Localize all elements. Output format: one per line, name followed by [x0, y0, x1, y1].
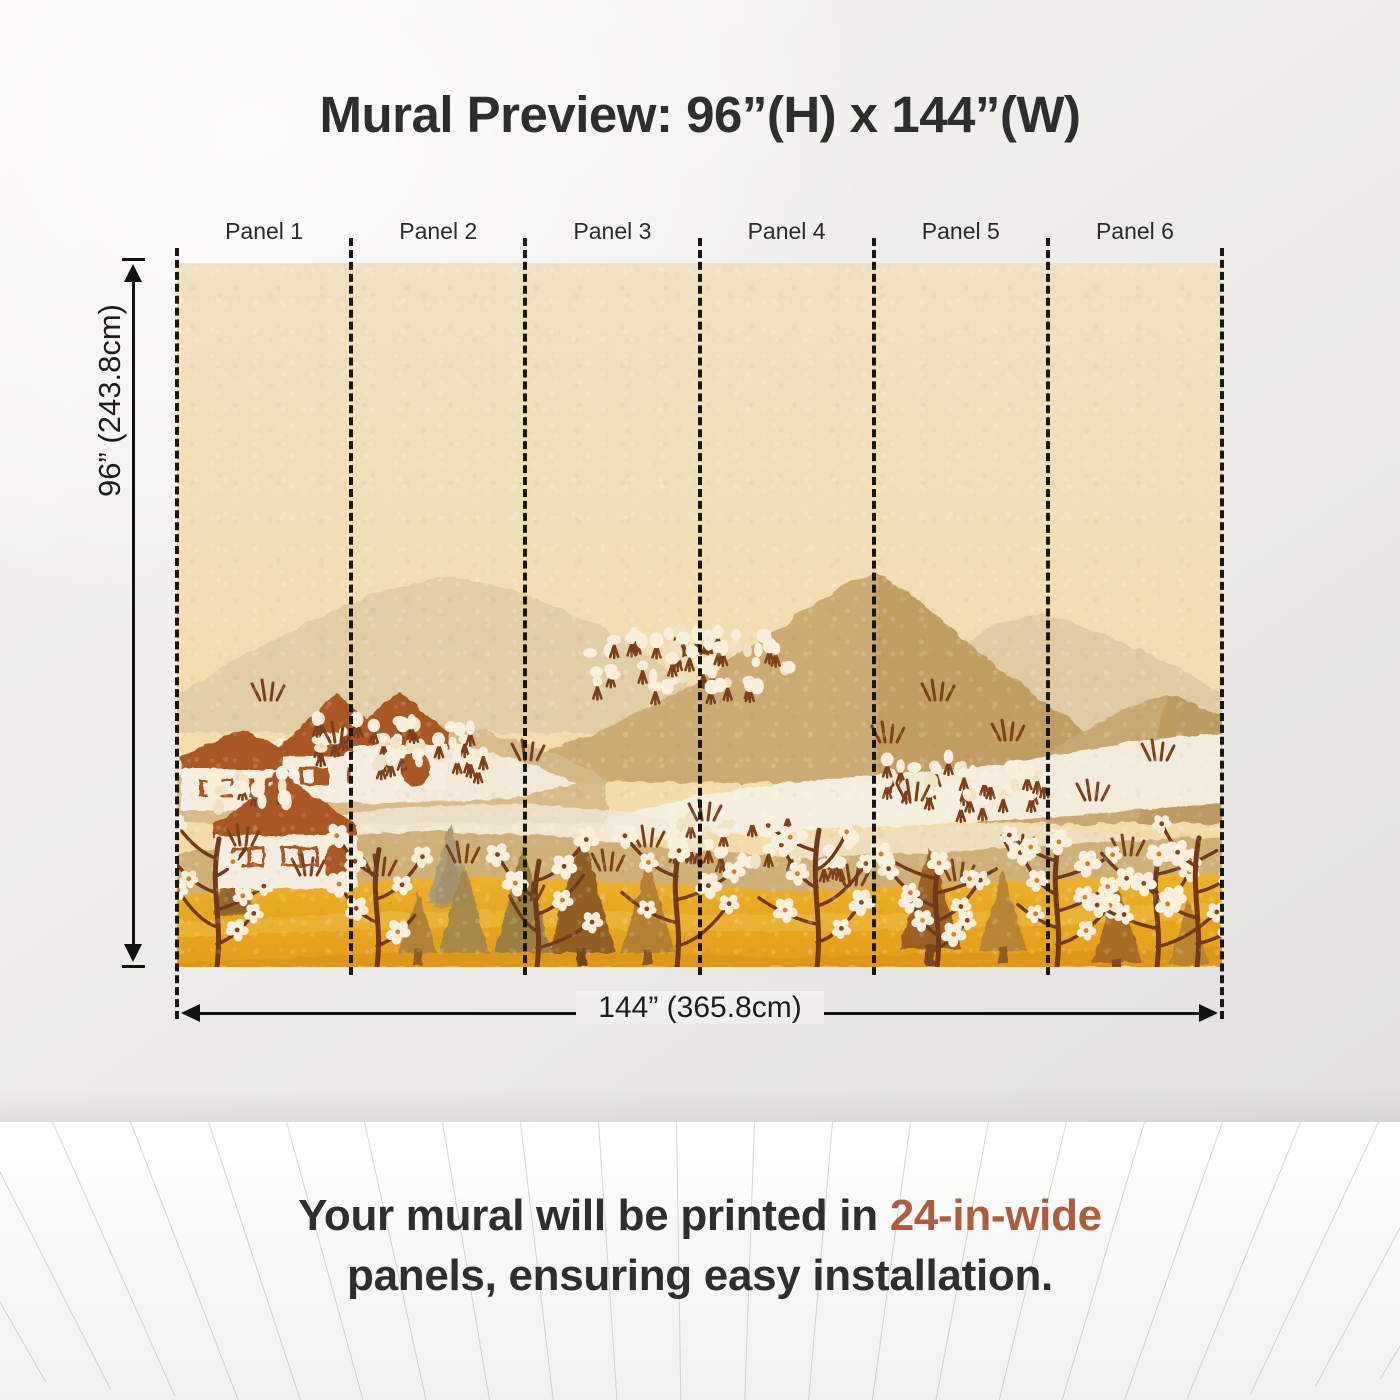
footer-caption-line1: Your mural will be printed in 24-in-wide	[0, 1186, 1400, 1246]
panel-divider-3	[698, 238, 702, 975]
panel-divider-5	[1046, 238, 1050, 975]
footer-caption-line2: panels, ensuring easy installation.	[0, 1246, 1400, 1306]
panel-divider-6	[1220, 248, 1224, 1019]
panel-divider-0	[175, 248, 179, 1019]
panel-divider-1	[349, 238, 353, 975]
height-arrow-bottom-cap	[122, 965, 145, 968]
height-arrow-shaft	[132, 280, 135, 946]
page-title: Mural Preview: 96”(H) x 144”(W)	[0, 85, 1400, 144]
panel-divider-4	[872, 238, 876, 975]
height-dimension-arrow	[131, 258, 136, 968]
footer-caption-line1-before: Your mural will be printed in	[298, 1191, 890, 1240]
panel-label-2: Panel 2	[351, 213, 525, 249]
footer-caption-accent: 24-in-wide	[890, 1191, 1102, 1240]
panel-label-6: Panel 6	[1048, 213, 1222, 249]
panel-label-3: Panel 3	[525, 213, 699, 249]
panel-label-1: Panel 1	[177, 213, 351, 249]
height-arrow-down-head	[124, 944, 142, 962]
width-dimension-label: 144” (365.8cm)	[0, 991, 1400, 1025]
mural-preview-page: Mural Preview: 96”(H) x 144”(W) Panel 1P…	[0, 0, 1400, 1400]
height-dimension-label: 96” (243.8cm)	[92, 197, 128, 497]
panel-label-5: Panel 5	[874, 213, 1048, 249]
panel-label-4: Panel 4	[700, 213, 874, 249]
width-dimension-text: 144” (365.8cm)	[576, 991, 823, 1024]
panel-divider-2	[523, 238, 527, 975]
footer-caption: Your mural will be printed in 24-in-wide…	[0, 1186, 1400, 1306]
